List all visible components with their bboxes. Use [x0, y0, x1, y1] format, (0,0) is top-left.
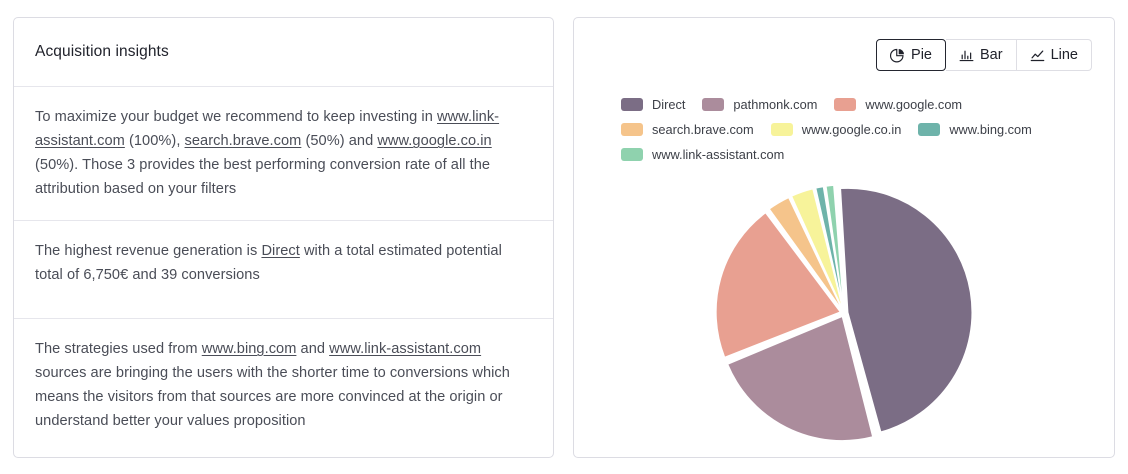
insight-text-run: (100%), — [125, 133, 185, 149]
chart-type-pie-label: Pie — [911, 47, 932, 63]
legend-label: pathmonk.com — [733, 97, 817, 112]
legend-label: www.link-assistant.com — [652, 147, 784, 162]
insight-text: The highest revenue generation is Direct… — [35, 239, 532, 287]
insight-text: To maximize your budget we recommend to … — [35, 105, 532, 201]
legend-swatch-icon — [621, 98, 643, 111]
acquisition-chart-card: Pie Bar Line — [573, 17, 1115, 458]
legend-swatch-icon — [918, 123, 940, 136]
card-header: Acquisition insights — [14, 18, 553, 87]
insight-text: The strategies used from www.bing.com an… — [35, 337, 532, 433]
insight-text-run: To maximize your budget we recommend to … — [35, 109, 437, 125]
chart-type-line-button[interactable]: Line — [1017, 39, 1092, 71]
insight-text-run: sources are bringing the users with the … — [35, 365, 510, 429]
legend-item[interactable]: www.google.co.in — [771, 122, 902, 137]
page-title: Acquisition insights — [35, 43, 169, 61]
pie-chart-icon — [890, 48, 905, 63]
legend-swatch-icon — [702, 98, 724, 111]
insight-block-strategies-used: The strategies used from www.bing.com an… — [14, 319, 553, 451]
legend-swatch-icon — [834, 98, 856, 111]
chart-type-bar-label: Bar — [980, 47, 1003, 63]
chart-type-bar-button[interactable]: Bar — [946, 39, 1017, 71]
pie-chart — [574, 168, 1114, 458]
insight-link[interactable]: www.google.co.in — [377, 133, 491, 149]
insight-block-budget-recommendation: To maximize your budget we recommend to … — [14, 87, 553, 221]
bar-chart-icon — [959, 48, 974, 63]
insight-link[interactable]: search.brave.com — [185, 133, 302, 149]
insight-text-run: The strategies used from — [35, 341, 202, 357]
insight-link[interactable]: www.bing.com — [202, 341, 297, 357]
legend-item[interactable]: www.bing.com — [918, 122, 1032, 137]
legend-label: www.google.co.in — [802, 122, 902, 137]
acquisition-insights-card: Acquisition insights To maximize your bu… — [13, 17, 554, 458]
legend-swatch-icon — [621, 123, 643, 136]
insight-text-run: (50%) and — [301, 133, 377, 149]
insight-text-run: The highest revenue generation is — [35, 243, 261, 259]
legend-swatch-icon — [771, 123, 793, 136]
legend-item[interactable]: search.brave.com — [621, 122, 754, 137]
insight-text-run: and — [296, 341, 329, 357]
legend-label: search.brave.com — [652, 122, 754, 137]
insight-text-run: (50%). Those 3 provides the best perform… — [35, 157, 490, 197]
legend-label: www.bing.com — [949, 122, 1032, 137]
line-chart-icon — [1030, 48, 1045, 63]
legend-label: www.google.com — [865, 97, 962, 112]
legend-item[interactable]: pathmonk.com — [702, 97, 817, 112]
chart-legend: Directpathmonk.comwww.google.comsearch.b… — [621, 97, 1091, 162]
legend-item[interactable]: Direct — [621, 97, 685, 112]
legend-item[interactable]: www.link-assistant.com — [621, 147, 784, 162]
insight-link[interactable]: Direct — [261, 243, 299, 259]
acquisition-insights-page: Acquisition insights To maximize your bu… — [0, 0, 1128, 474]
legend-item[interactable]: www.google.com — [834, 97, 962, 112]
chart-type-toggle-group: Pie Bar Line — [876, 39, 1092, 71]
insight-link[interactable]: www.link-assistant.com — [329, 341, 481, 357]
insight-block-highest-revenue: The highest revenue generation is Direct… — [14, 221, 553, 319]
chart-type-pie-button[interactable]: Pie — [876, 39, 946, 71]
chart-type-line-label: Line — [1051, 47, 1078, 63]
pie-chart-svg — [694, 173, 994, 453]
legend-swatch-icon — [621, 148, 643, 161]
legend-label: Direct — [652, 97, 685, 112]
